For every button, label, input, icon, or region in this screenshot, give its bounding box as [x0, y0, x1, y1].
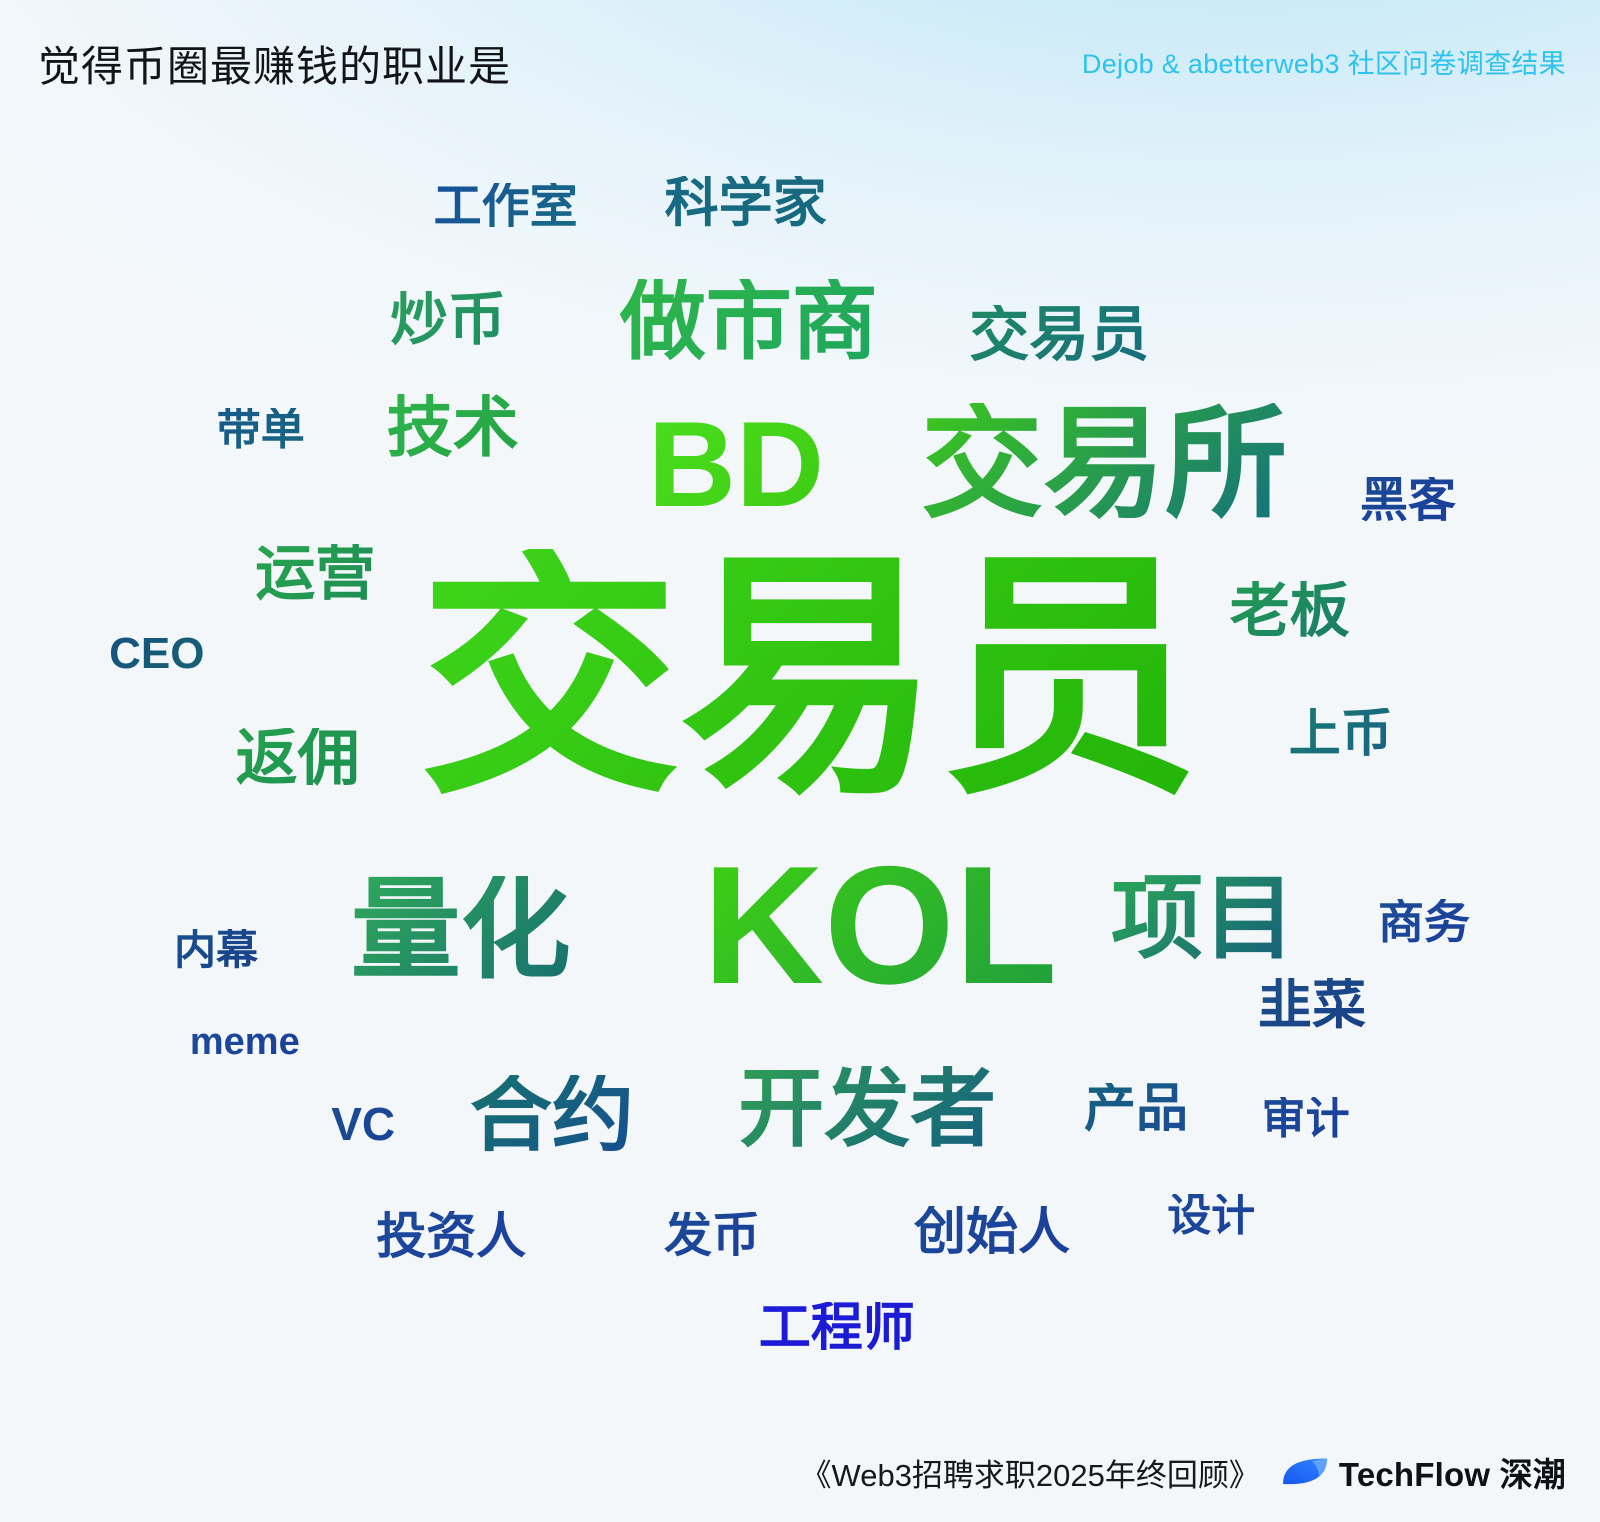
cloud-word: 黑客	[1360, 477, 1456, 525]
cloud-word: meme	[190, 1023, 300, 1061]
cloud-word: 量化	[351, 876, 571, 986]
cloud-word: 带单	[217, 408, 305, 452]
survey-source-note: Dejob & abetterweb3 社区问卷调查结果	[1082, 42, 1566, 81]
cloud-word: 技术	[387, 394, 519, 460]
report-title: 《Web3招聘求职2025年终回顾》	[801, 1450, 1260, 1495]
cloud-word: 设计	[1167, 1194, 1255, 1238]
cloud-word: 项目	[1111, 873, 1295, 965]
cloud-word: 科学家	[665, 176, 827, 230]
cloud-word: 交易员	[420, 549, 1200, 809]
wordcloud-infographic: 觉得币圈最赚钱的职业是 Dejob & abetterweb3 社区问卷调查结果…	[0, 0, 1600, 1522]
cloud-word: 内幕	[174, 929, 258, 971]
cloud-word: 交易所	[921, 403, 1287, 525]
brand-lockup[interactable]: TechFlow 深潮	[1282, 1448, 1566, 1496]
cloud-word: VC	[331, 1101, 395, 1147]
cloud-word: 审计	[1262, 1097, 1350, 1141]
cloud-word: 创始人	[914, 1206, 1070, 1258]
leaf-logo-icon	[1282, 1457, 1328, 1487]
cloud-word: CEO	[109, 632, 204, 676]
cloud-word: 产品	[1084, 1083, 1188, 1135]
cloud-word: 上币	[1289, 708, 1393, 760]
cloud-word: 老板	[1230, 581, 1350, 641]
cloud-word: 做市商	[620, 279, 878, 365]
footer: 《Web3招聘求职2025年终回顾》 TechFlow 深潮	[801, 1448, 1566, 1496]
cloud-word: 炒币	[390, 291, 506, 349]
cloud-word: BD	[648, 403, 824, 525]
cloud-word: 返佣	[236, 728, 360, 790]
cloud-word: 工作室	[434, 183, 578, 231]
cloud-word: 开发者	[738, 1066, 996, 1152]
cloud-word: 交易员	[969, 305, 1149, 365]
page-title: 觉得币圈最赚钱的职业是	[38, 33, 511, 94]
cloud-word: 韭菜	[1258, 978, 1366, 1032]
brand-name: TechFlow 深潮	[1339, 1448, 1566, 1496]
cloud-word: 工程师	[759, 1302, 915, 1354]
cloud-word: 合约	[470, 1075, 634, 1157]
cloud-word: 投资人	[376, 1211, 526, 1261]
word-cloud: 交易员KOL交易所BD量化做市商开发者项目合约技术交易员返佣运营老板炒币工作室科…	[0, 150, 1600, 1380]
cloud-word: 商务	[1378, 899, 1470, 945]
cloud-word: KOL	[703, 841, 1058, 1009]
cloud-word: 运营	[255, 544, 375, 604]
cloud-word: 发币	[664, 1212, 760, 1260]
